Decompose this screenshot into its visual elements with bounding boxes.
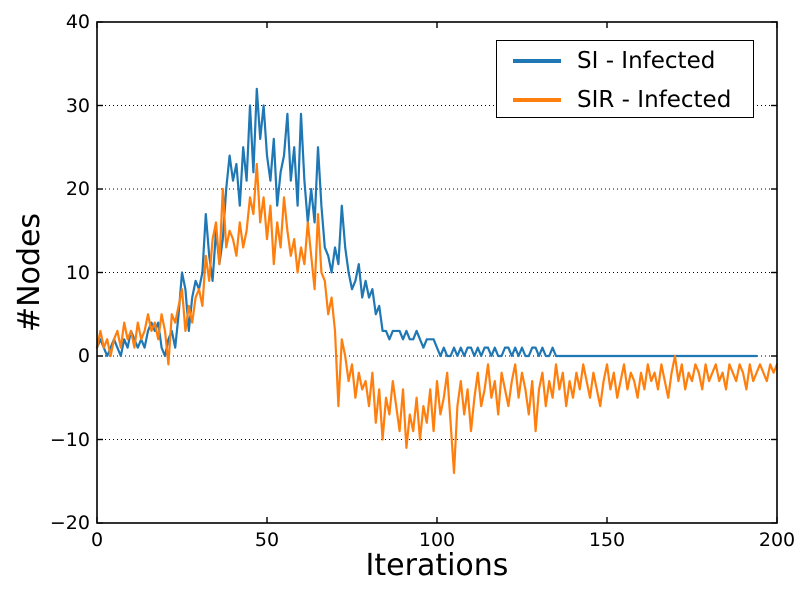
y-tick-label: −20 [40, 512, 90, 534]
legend-label: SIR - Infected [577, 87, 731, 113]
x-tick-label: 50 [255, 529, 279, 551]
legend-color-swatch [513, 98, 561, 102]
x-tick-label: 150 [589, 529, 625, 551]
chart-figure: #Nodes Iterations 403020100−10−20 050100… [0, 0, 800, 600]
legend-entry: SI - Infected [497, 41, 753, 80]
y-tick-label: 20 [40, 178, 90, 200]
legend-label: SI - Infected [577, 48, 715, 74]
y-tick-label: 30 [40, 95, 90, 117]
series-line-0 [97, 89, 757, 356]
y-tick-label: −10 [40, 429, 90, 451]
x-axis-label-wrap: Iterations [97, 548, 777, 583]
series-line-1 [97, 164, 777, 473]
x-tick-label: 200 [759, 529, 795, 551]
x-tick-label: 100 [419, 529, 455, 551]
x-tick-label: 0 [91, 529, 103, 551]
y-tick-label: 40 [40, 11, 90, 33]
y-tick-label: 10 [40, 262, 90, 284]
legend-color-swatch [513, 59, 561, 63]
legend-entry: SIR - Infected [497, 80, 753, 119]
data-series-layer [97, 89, 777, 473]
x-axis-label: Iterations [366, 548, 509, 583]
chart-legend: SI - InfectedSIR - Infected [496, 40, 754, 118]
y-tick-label: 0 [40, 345, 90, 367]
